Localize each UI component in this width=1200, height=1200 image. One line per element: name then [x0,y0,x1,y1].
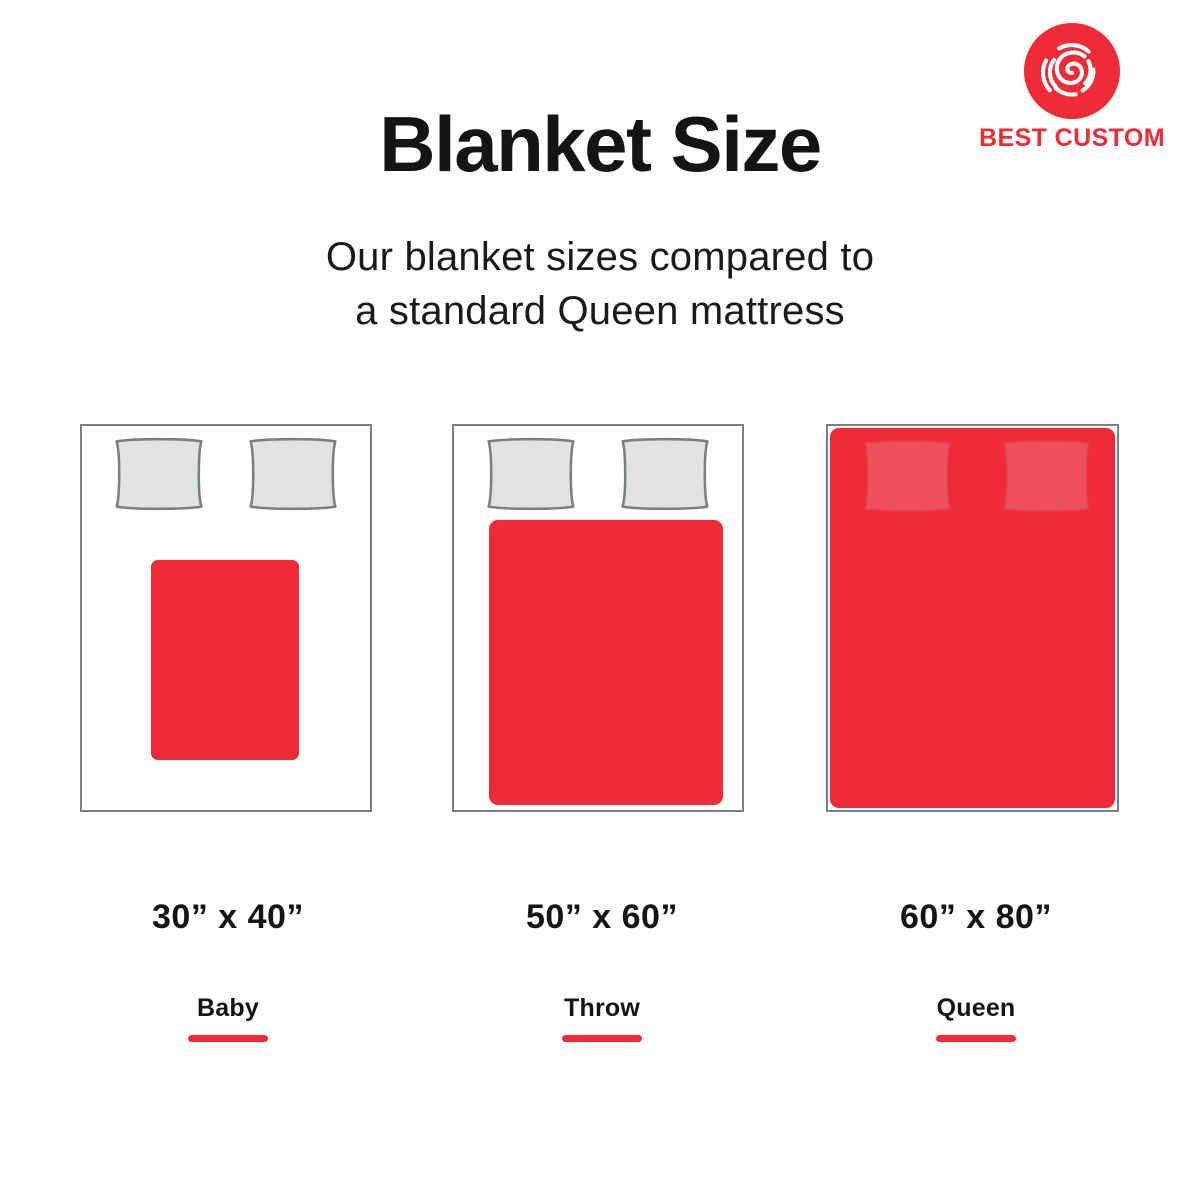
caption-queen: 60” x 80” Queen [830,900,1122,1042]
bed-diagram-queen [826,424,1119,812]
size-name: Baby [82,996,374,1021]
bed-inner-baby [82,426,370,810]
caption-throw: 50” x 60” Throw [456,900,748,1042]
pillow-icon-left [482,437,580,511]
size-name: Queen [830,996,1122,1021]
bed-diagram-baby [80,424,372,812]
pillow-icon-right [997,439,1096,513]
page-subtitle: Our blanket sizes compared to a standard… [0,230,1200,338]
blanket-shape-baby [151,560,299,760]
size-name: Throw [456,996,748,1021]
bed-inner-queen [828,426,1117,810]
caption-baby: 30” x 40” Baby [82,900,374,1042]
bed-inner-throw [454,426,742,810]
size-label: 50” x 60” [456,900,748,934]
accent-underline [936,1035,1016,1042]
infographic-canvas: BEST CUSTOM Blanket Size Our blanket siz… [0,0,1200,1200]
pillow-icon-left [858,439,957,513]
bed-comparison-row [0,424,1200,814]
pillow-icon-left [110,437,208,511]
subtitle-line-1: Our blanket sizes compared to [0,230,1200,284]
page-title: Blanket Size [0,104,1200,186]
subtitle-line-2: a standard Queen mattress [0,284,1200,338]
size-label: 60” x 80” [830,900,1122,934]
size-label: 30” x 40” [82,900,374,934]
accent-underline [188,1035,268,1042]
pillow-icon-right [244,437,342,511]
accent-underline [562,1035,642,1042]
blanket-shape-throw [489,520,723,805]
pillow-icon-right [616,437,714,511]
caption-row: 30” x 40” Baby 50” x 60” Throw 60” x 80”… [0,900,1200,1050]
bed-diagram-throw [452,424,744,812]
